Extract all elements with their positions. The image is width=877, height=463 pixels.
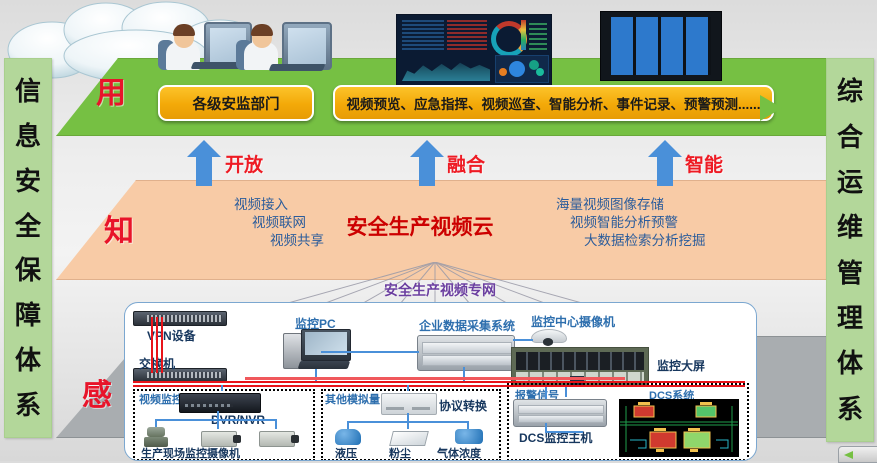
- group-title-video: 视频监控: [139, 391, 183, 407]
- sidebar-right-char-7: 系: [837, 396, 863, 422]
- arrow-up-fusion: [410, 140, 444, 186]
- dvr-nvr-icon: [179, 393, 261, 413]
- right-capabilities: 海量视频图像存储 视频智能分析预警 大数据检索分析挖掘: [556, 196, 771, 249]
- corner-triangle-left: [760, 95, 782, 121]
- sidebar-left-char-0: 信: [15, 78, 41, 104]
- monitor-pc-icon: [283, 329, 349, 371]
- capability-video-share: 视频共享: [133, 232, 324, 250]
- bottom-corner-tab: [838, 446, 877, 463]
- sense-layer-panel: VPN设备 交换机 监控PC 企业数据采集系统 监控中心摄像机: [124, 302, 757, 461]
- sidebar-right-char-2: 运: [837, 169, 863, 195]
- hydraulic-sensor-icon: [335, 429, 361, 445]
- sidebar-right-char-6: 体: [837, 350, 863, 376]
- operator-illustration-2: [236, 18, 328, 70]
- capability-bigdata-mining: 大数据检索分析挖掘: [584, 232, 771, 250]
- ptz-camera-icon: [143, 427, 169, 447]
- arrow-label-intelligent: 智能: [685, 150, 723, 177]
- capability-intelligent-analysis: 视频智能分析预警: [570, 214, 771, 232]
- label-big-screen: 监控大屏: [657, 357, 705, 374]
- left-capabilities: 视频接入 视频联网 视频共享: [133, 196, 288, 249]
- vpn-device-icon: [133, 311, 227, 326]
- arrow-up-open: [187, 140, 221, 186]
- sidebar-left-char-2: 安: [15, 168, 41, 194]
- label-protocol-converter: 协议转换: [439, 397, 487, 414]
- label-monitor-pc: 监控PC: [295, 315, 336, 332]
- arrow-up-intelligent: [648, 140, 682, 186]
- sidebar-right-char-4: 管: [837, 260, 863, 286]
- layer-label-sense: 感: [82, 370, 113, 414]
- sidebar-left-char-3: 全: [15, 213, 41, 239]
- data-dashboard-image: [396, 14, 552, 87]
- dcs-host-icon: [513, 399, 607, 427]
- sidebar-left-char-1: 息: [15, 123, 41, 149]
- capability-video-network: 视频联网: [133, 214, 306, 232]
- bullet-camera-icon-2: [259, 431, 295, 447]
- label-dust: 粉尘: [389, 445, 411, 461]
- department-box[interactable]: 各级安监部门: [158, 85, 314, 121]
- video-wall-image: [600, 11, 722, 81]
- arrow-label-open: 开放: [225, 150, 263, 177]
- sidebar-right-char-0: 综: [837, 78, 863, 104]
- layer-label-know: 知: [104, 206, 135, 250]
- sidebar-right-char-1: 合: [837, 124, 863, 150]
- cloud-title: 安全生产视频云: [284, 211, 556, 241]
- functions-box[interactable]: 视频预览、应急指挥、视频巡查、智能分析、事件记录、预警预测......: [333, 85, 774, 121]
- layer-label-use: 用: [96, 68, 127, 112]
- caption-field-cameras: 生产现场监控摄像机: [141, 445, 240, 461]
- sidebar-left-char-6: 体: [15, 347, 41, 373]
- capability-mass-storage: 海量视频图像存储: [556, 196, 771, 214]
- sidebar-left-security-system: 信 息 安 全 保 障 体 系: [4, 58, 52, 438]
- architecture-diagram: 用 各级安监部门 视频预览、应急指挥、视频巡查、智能分析、事件记录、预警预测..…: [0, 0, 877, 461]
- label-vpn-device: VPN设备: [147, 327, 196, 344]
- label-centre-camera: 监控中心摄像机: [531, 313, 615, 330]
- sidebar-right-char-3: 维: [837, 214, 863, 240]
- data-acquisition-server-icon: [417, 335, 515, 371]
- private-network-label: 安全生产视频专网: [300, 280, 580, 300]
- dcs-screen-image: [619, 399, 739, 457]
- label-gas-concentration: 气体浓度: [437, 445, 481, 461]
- group-title-analog: 其他模拟量: [325, 391, 380, 407]
- sidebar-right-ops-system: 综 合 运 维 管 理 体 系: [826, 58, 874, 442]
- sidebar-right-char-5: 理: [837, 305, 863, 331]
- sidebar-left-char-4: 保: [15, 257, 41, 283]
- label-hydraulic: 液压: [335, 445, 357, 461]
- gas-sensor-icon: [455, 429, 483, 444]
- dome-camera-icon: [531, 329, 565, 349]
- dust-sensor-icon: [389, 431, 429, 446]
- capability-video-access: 视频接入: [133, 196, 288, 214]
- protocol-converter-icon: [381, 393, 437, 415]
- sidebar-left-char-5: 障: [15, 302, 41, 328]
- label-data-acquisition: 企业数据采集系统: [419, 317, 515, 334]
- arrow-label-fusion: 融合: [447, 150, 485, 177]
- sidebar-left-char-7: 系: [15, 392, 41, 418]
